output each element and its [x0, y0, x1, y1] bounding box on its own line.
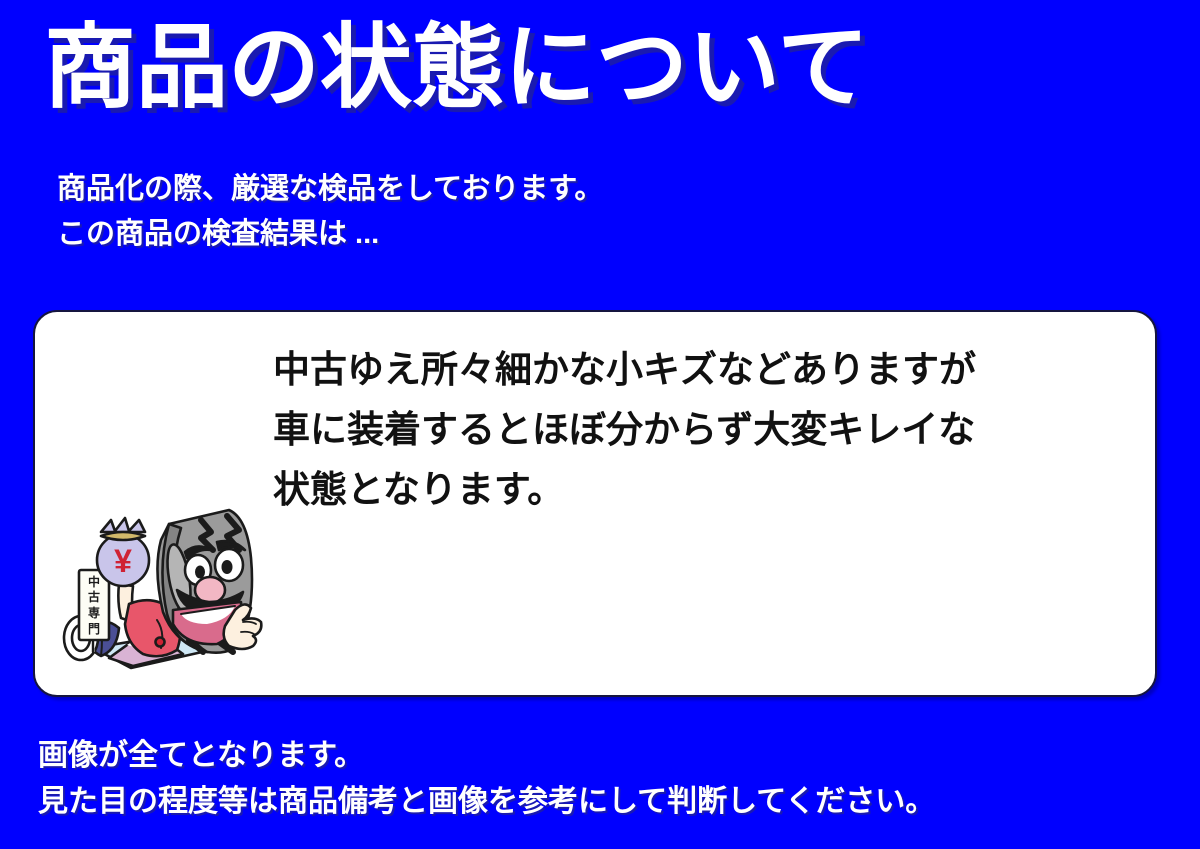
intro-line-1: 商品化の際、厳選な検品をしております。: [57, 167, 603, 212]
svg-text:古: 古: [88, 589, 100, 604]
footer-line-2: 見た目の程度等は商品備考と画像を参考にして判断してください。: [38, 779, 935, 825]
svg-text:門: 門: [88, 622, 100, 636]
condition-description: 中古ゆえ所々細かな小キズなどありますが 車に装着するとほぼ分からず大変キレイな …: [273, 340, 976, 520]
intro-line-2: この商品の検査結果は ...: [57, 212, 603, 257]
svg-text:¥: ¥: [114, 543, 132, 579]
svg-text:専: 専: [88, 605, 100, 620]
product-condition-banner: 商品の状態について 商品化の際、厳選な検品をしております。 この商品の検査結果は…: [0, 0, 1200, 849]
condition-result-card: 中古ゆえ所々細かな小キズなどありますが 車に装着するとほぼ分からず大変キレイな …: [33, 310, 1157, 697]
condition-line-2: 車に装着するとほぼ分からず大変キレイな: [273, 400, 976, 460]
tire-character-mascot-icon: 中 古 専 門 ¥: [57, 498, 267, 683]
condition-line-3: 状態となります。: [273, 460, 976, 520]
condition-line-1: 中古ゆえ所々細かな小キズなどありますが: [273, 340, 976, 400]
footer-line-1: 画像が全てとなります。: [38, 733, 935, 779]
intro-text: 商品化の際、厳選な検品をしております。 この商品の検査結果は ...: [57, 167, 603, 257]
page-title: 商品の状態について: [44, 18, 869, 119]
money-bag-icon: ¥: [97, 518, 149, 586]
svg-text:中: 中: [88, 574, 100, 589]
footer-notes: 画像が全てとなります。 見た目の程度等は商品備考と画像を参考にして判断してくださ…: [38, 733, 935, 824]
